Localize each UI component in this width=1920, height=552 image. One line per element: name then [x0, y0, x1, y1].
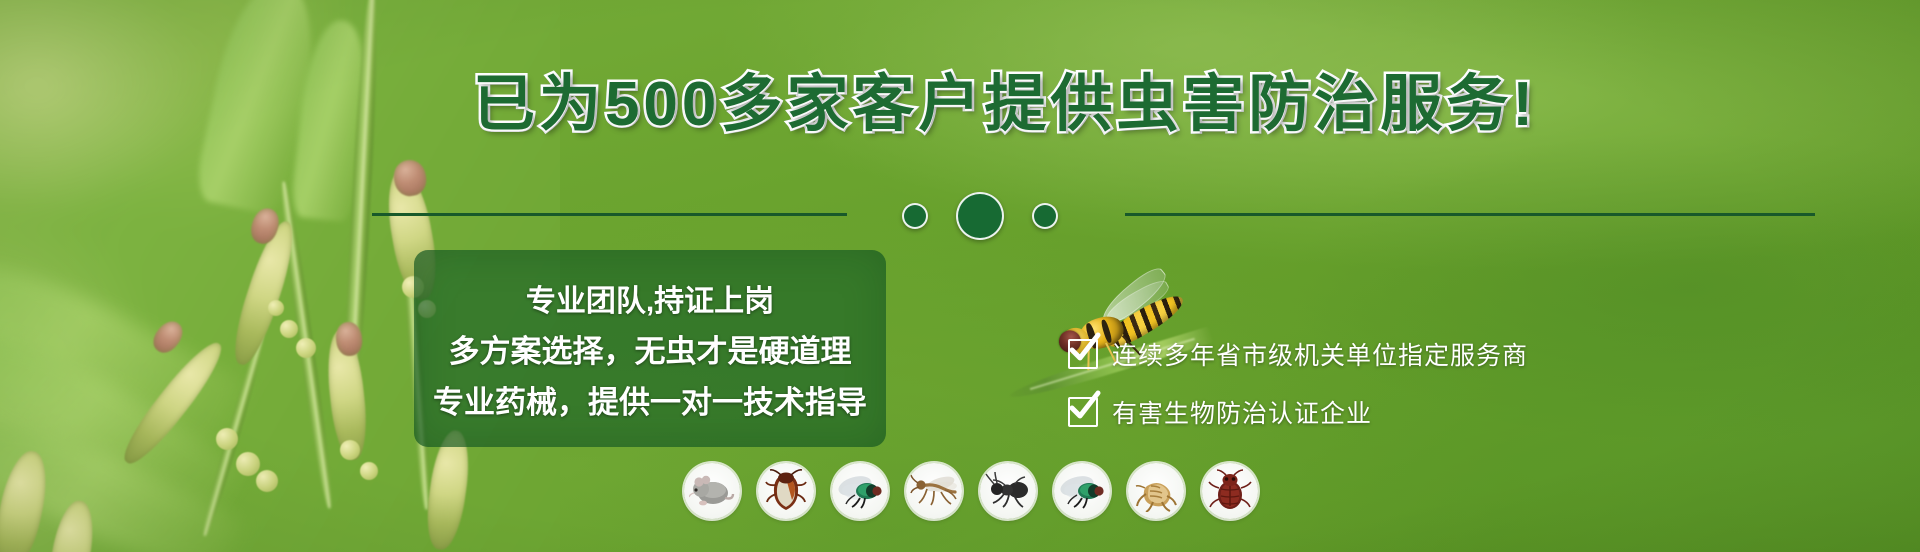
divider-left — [372, 213, 847, 216]
claim-line-2: 多方案选择，无虫才是硬道理 — [449, 326, 852, 371]
check-mark-icon — [1068, 397, 1098, 427]
fly-icon[interactable] — [832, 463, 888, 519]
decor-dot-small-left — [902, 203, 928, 229]
blowfly-icon[interactable] — [1054, 463, 1110, 519]
decor-dot-small-right — [1032, 203, 1058, 229]
ant-icon[interactable] — [980, 463, 1036, 519]
page-title: 已为500多家客户提供虫害防治服务! — [0, 74, 1920, 136]
decor-dot-large-center — [956, 192, 1004, 240]
bedbug-icon[interactable] — [1202, 463, 1258, 519]
claims-panel: 专业团队,持证上岗 多方案选择，无虫才是硬道理 专业药械，提供一对一技术指导 — [414, 250, 886, 447]
claim-line-3: 专业药械，提供一对一技术指导 — [433, 377, 867, 422]
headline-text: 已为500多家客户提供虫害防治服务! — [473, 70, 1537, 139]
decor-dot-group — [855, 190, 1105, 242]
divider-right — [1125, 213, 1815, 216]
pest-control-hero-banner: 已为500多家客户提供虫害防治服务! 专业团队,持证上岗 多方案选择，无虫才是硬… — [0, 0, 1920, 552]
credential-text: 连续多年省市级机关单位指定服务商 — [1112, 336, 1528, 372]
list-item: 连续多年省市级机关单位指定服务商 — [1068, 336, 1528, 372]
pest-icon-strip — [684, 463, 1258, 519]
check-mark-icon — [1068, 339, 1098, 369]
credential-text: 有害生物防治认证企业 — [1112, 394, 1372, 430]
credential-checklist: 连续多年省市级机关单位指定服务商 有害生物防治认证企业 — [1068, 336, 1528, 430]
cockroach-icon[interactable] — [758, 463, 814, 519]
mouse-icon[interactable] — [684, 463, 740, 519]
list-item: 有害生物防治认证企业 — [1068, 394, 1528, 430]
flea-icon[interactable] — [1128, 463, 1184, 519]
claim-line-1: 专业团队,持证上岗 — [526, 276, 774, 320]
mosquito-icon[interactable] — [906, 463, 962, 519]
